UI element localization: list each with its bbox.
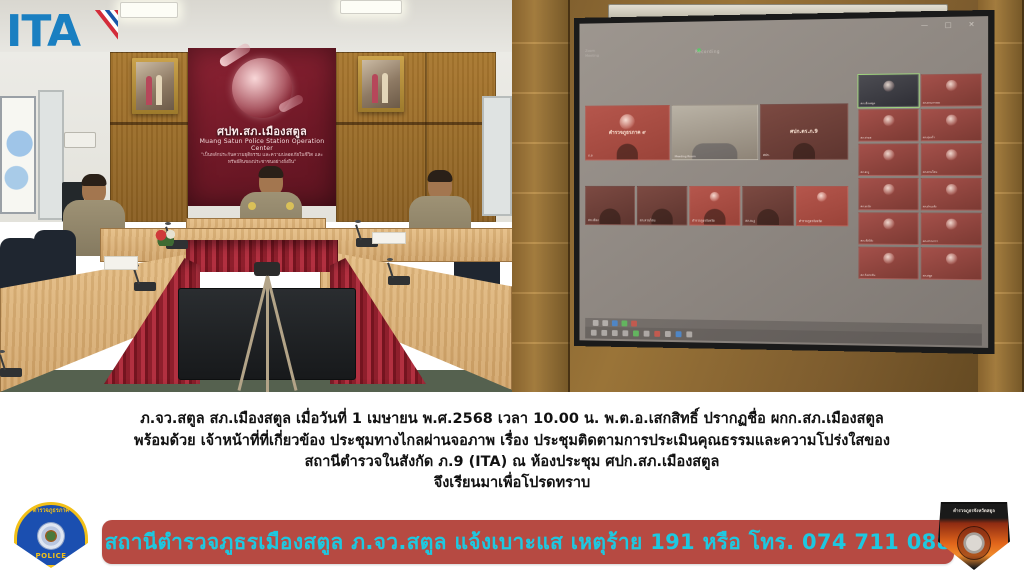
video-tile-label: ศปก.ตร.ภ.9 <box>761 127 847 136</box>
browser-icon[interactable] <box>612 320 618 326</box>
video-tile[interactable]: สภ.ปากบารา <box>921 212 982 245</box>
apps-icon[interactable] <box>665 331 671 337</box>
backdrop-motto: "เป็นหลักประกันความยุติธรรม และความปลอดภ… <box>194 152 330 166</box>
camera-tripod <box>246 262 288 392</box>
video-tile[interactable]: สภ.ควนกาหลง <box>921 74 982 107</box>
video-tile-name: สภ.ปากบารา <box>923 240 938 244</box>
badge-top-text: ตำรวจภูธรจังหวัดสตูล <box>932 507 1016 514</box>
video-tile-name: สภ.วังประจัน <box>860 274 875 278</box>
video-tile-name: สภ.ละงู <box>745 219 755 224</box>
video-tile[interactable]: สภ.วังประจัน <box>858 247 918 280</box>
participant-silhouette <box>599 208 620 224</box>
flower-vase <box>152 228 182 246</box>
caption-line: จึงเรียนมาเพื่อโปรดทราบ <box>434 473 591 494</box>
backdrop-title-en: Muang Satun Police Station Operation Cen… <box>188 138 336 152</box>
video-tile-name: สภ.ควนกาหลง <box>923 102 940 106</box>
mute-icon[interactable] <box>591 330 597 336</box>
conference-microphone <box>388 276 410 285</box>
ita-logo: ITA <box>6 4 124 62</box>
video-tile-name: สภ.เมืองสตูล <box>860 102 875 106</box>
projector-screen-photo: — □ ✕ ZoomMeeting Recording ตำรวจภูธรภาค… <box>512 0 1024 392</box>
app-icon[interactable] <box>631 320 637 326</box>
panel-seam <box>336 122 496 125</box>
record-icon[interactable] <box>644 331 650 337</box>
rank-insignia <box>286 202 294 210</box>
caption-line: พร้อมด้วย เจ้าหน้าที่ที่เกี่ยวข้อง ประชุ… <box>134 431 890 452</box>
conference-microphone <box>0 368 22 377</box>
chat-icon[interactable] <box>622 330 628 336</box>
window-frame <box>482 96 512 216</box>
video-tile[interactable]: สภ.เจ๊ะบิลัง <box>858 212 918 245</box>
reactions-icon[interactable] <box>654 331 660 337</box>
officer-hair <box>259 166 284 178</box>
video-tile[interactable]: สภ.สตูล <box>921 247 982 280</box>
badge-bottom-text: POLICE <box>8 552 94 560</box>
more-options-icon[interactable] <box>686 331 692 337</box>
participant-sidebar: สภ.เมืองสตูล สภ.ควนกาหลง สภ.ท่าแพ สภ.ทุ่… <box>858 74 981 281</box>
document-papers <box>372 232 406 244</box>
video-tile-name: สภ.เจ๊ะบิลัง <box>860 240 873 244</box>
video-tile[interactable]: ตำรวจภูธรจังหวัด <box>689 186 740 226</box>
police-emblem-icon <box>232 58 292 118</box>
ita-logo-text: ITA <box>6 6 80 57</box>
video-tile[interactable]: สภ.ท่าแพ <box>858 109 918 142</box>
whiteboard-icon[interactable] <box>676 331 682 337</box>
wall-ac-unit <box>64 132 96 148</box>
police-emblem-icon <box>946 80 957 91</box>
video-tile-row-main: ตำรวจภูธรภาค ๙ ภ.9 Meeting Room ศปก.ตร.ภ… <box>585 103 848 160</box>
ceiling-light-icon <box>120 2 178 18</box>
police-emblem-icon <box>710 192 720 202</box>
participant-silhouette <box>617 144 638 160</box>
badge-top-text: ตำรวจภูธรภาค <box>8 507 94 515</box>
projection-screen: — □ ✕ ZoomMeeting Recording ตำรวจภูธรภาค… <box>574 10 995 354</box>
video-tile-name: สภ.ท่าแพ <box>860 137 871 141</box>
police-emblem-icon <box>883 253 894 264</box>
video-tile-name: ภ.9 <box>588 154 593 159</box>
police-star-icon <box>37 522 65 550</box>
royal-portrait <box>132 58 178 114</box>
video-tile-name: สภ.ควนโดน <box>640 218 656 223</box>
participant-silhouette <box>757 209 779 225</box>
wood-wall-panel <box>512 0 570 392</box>
officer-hair <box>428 170 453 182</box>
police-emblem-icon <box>817 192 827 202</box>
ceiling-light-icon <box>340 0 402 14</box>
police-emblem-icon <box>883 80 894 91</box>
video-tile-name: ศปก. <box>763 153 770 158</box>
document-papers <box>104 256 138 270</box>
participant-silhouette <box>692 143 737 159</box>
caption-line: ภ.จว.สตูล สภ.เมืองสตูล เมื่อวันที่ 1 เมษ… <box>140 409 884 430</box>
police-shield-icon: ตำรวจภูธรภาค POLICE <box>8 500 94 572</box>
caption-line: สถานีตำรวจในสังกัด ภ.9 (ITA) ณ ห้องประชุ… <box>305 452 720 473</box>
video-tile-name: สภ.ควนโดน <box>923 171 937 175</box>
video-tile[interactable]: Meeting Room <box>672 104 758 160</box>
video-tile[interactable]: สภ.ละงู <box>742 186 794 226</box>
video-tile[interactable]: สภ.ควนโดน <box>921 143 982 176</box>
video-tile-name: สภ.ทุ่งหว้า <box>923 136 935 140</box>
video-tile[interactable]: สภ.ละงู <box>858 143 918 176</box>
video-tile-label: ตำรวจภูธรภาค ๙ <box>586 128 669 136</box>
video-tile-name: สภ.ละงู <box>860 171 869 175</box>
police-emblem-icon <box>883 149 894 160</box>
camera-icon <box>254 262 280 276</box>
police-emblem-icon <box>946 218 957 229</box>
thai-flag-ribbon-icon <box>72 10 118 56</box>
explorer-icon[interactable] <box>622 320 628 326</box>
royal-thai-police-badge: ตำรวจภูธรภาค POLICE <box>8 500 94 572</box>
video-tile-name: Meeting Room <box>675 154 696 158</box>
footer: ตำรวจภูธรภาค POLICE สถานีตำรวจภูธรเมืองส… <box>0 496 1024 576</box>
participant-silhouette <box>793 143 815 159</box>
video-tile-row-secondary: สภ.เมือง สภ.ควนโดน ตำรวจภูธรจังหวัด สภ.ล… <box>585 186 848 226</box>
window-controls[interactable]: — □ ✕ <box>921 20 982 29</box>
police-emblem-icon <box>883 115 894 126</box>
hotline-text: สถานีตำรวจภูธรเมืองสตูล ภ.จว.สตูล แจ้งเบ… <box>105 526 952 559</box>
video-tile[interactable]: สภ.ทุ่งหว้า <box>921 108 982 141</box>
video-tile[interactable]: สภ.เมืองสตูล <box>858 74 918 107</box>
satun-provincial-police-badge: ตำรวจภูธรจังหวัดสตูล <box>932 500 1016 572</box>
royal-portrait <box>358 56 404 112</box>
recording-label: Recording <box>695 49 720 54</box>
police-emblem-icon <box>883 218 894 229</box>
hotline-banner: สถานีตำรวจภูธรเมืองสตูล ภ.จว.สตูล แจ้งเบ… <box>102 520 954 564</box>
video-tile[interactable]: สภ.ตำมะลัง <box>921 178 982 211</box>
video-tile[interactable]: ตำรวจภูธรภาค ๙ ภ.9 <box>585 105 670 161</box>
police-emblem-icon <box>946 184 957 195</box>
tripod-leg <box>266 276 269 392</box>
police-emblem-icon <box>883 184 894 195</box>
video-tile[interactable]: สภ.ควนโดน <box>637 186 687 226</box>
video-tile-name: ตำรวจภูธรจังหวัด <box>692 219 714 224</box>
conference-microphone <box>134 282 156 291</box>
video-camera-icon[interactable] <box>601 330 607 336</box>
video-tile[interactable]: สภ.เมือง <box>585 186 635 225</box>
police-emblem-icon <box>946 149 957 160</box>
police-emblem-icon <box>620 114 635 130</box>
video-tile-name: สภ.สตูล <box>923 275 932 279</box>
projected-image: — □ ✕ ZoomMeeting Recording ตำรวจภูธรภาค… <box>579 16 988 348</box>
emblem-ring-icon <box>957 526 991 560</box>
police-emblem-icon <box>946 114 957 125</box>
video-tile-name: สภ.มะนัง <box>860 205 870 209</box>
participants-icon[interactable] <box>612 330 618 336</box>
video-tile[interactable]: สภ.มะนัง <box>858 178 918 211</box>
photo-strip: ศปท.สภ.เมืองสตูล Muang Satun Police Stat… <box>0 0 1024 392</box>
caption-block: ภ.จว.สตูล สภ.เมืองสตูล เมื่อวันที่ 1 เมษ… <box>0 392 1024 502</box>
police-emblem-icon <box>946 253 957 264</box>
video-tile-name: สภ.ตำมะลัง <box>923 205 937 209</box>
video-tile[interactable]: ศปก.ตร.ภ.9 ศปก. <box>760 103 848 160</box>
dark-shield-icon: ตำรวจภูธรจังหวัดสตูล <box>932 500 1016 572</box>
video-tile-name: สภ.เมือง <box>588 218 599 223</box>
video-tile[interactable]: ตำรวจภูธรจังหวัด <box>796 186 848 226</box>
meeting-info-text: ZoomMeeting <box>585 49 599 60</box>
rank-insignia <box>248 202 256 210</box>
search-icon[interactable] <box>602 320 608 326</box>
panel-seam <box>110 122 188 125</box>
officer-hair <box>82 174 107 186</box>
wall-map <box>0 96 36 214</box>
video-tile-name: ตำรวจภูธรจังหวัด <box>799 219 822 224</box>
share-screen-icon[interactable] <box>633 330 639 336</box>
start-icon[interactable] <box>593 319 599 325</box>
